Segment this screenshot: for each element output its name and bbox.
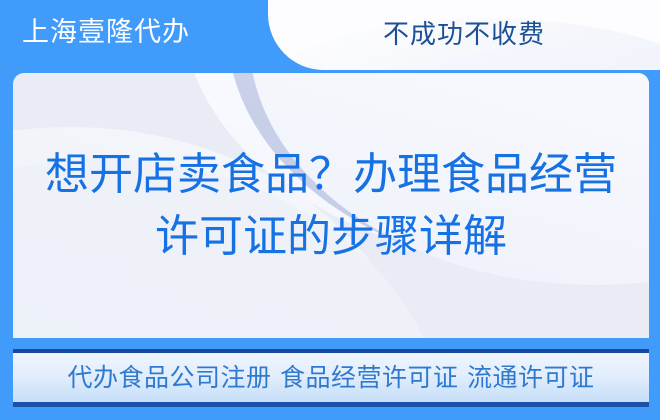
headline-line-2: 许可证的步骤详解 <box>155 206 507 268</box>
brand-name: 上海壹隆代办 <box>22 14 190 52</box>
tagline: 不成功不收费 <box>268 16 660 54</box>
keywords-text: 代办食品公司注册 食品经营许可证 流通许可证 <box>68 361 595 395</box>
keywords-bar: 代办食品公司注册 食品经营许可证 流通许可证 <box>13 349 649 407</box>
headline-block: 想开店卖食品？办理食品经营 许可证的步骤详解 <box>13 73 649 338</box>
main-content-panel: 想开店卖食品？办理食品经营 许可证的步骤详解 <box>13 73 649 338</box>
headline-line-1: 想开店卖食品？办理食品经营 <box>45 144 617 206</box>
promotional-banner: 上海壹隆代办 不成功不收费 想开店卖食品？办理食品经营 许可证的步骤详解 代办食… <box>0 0 660 420</box>
